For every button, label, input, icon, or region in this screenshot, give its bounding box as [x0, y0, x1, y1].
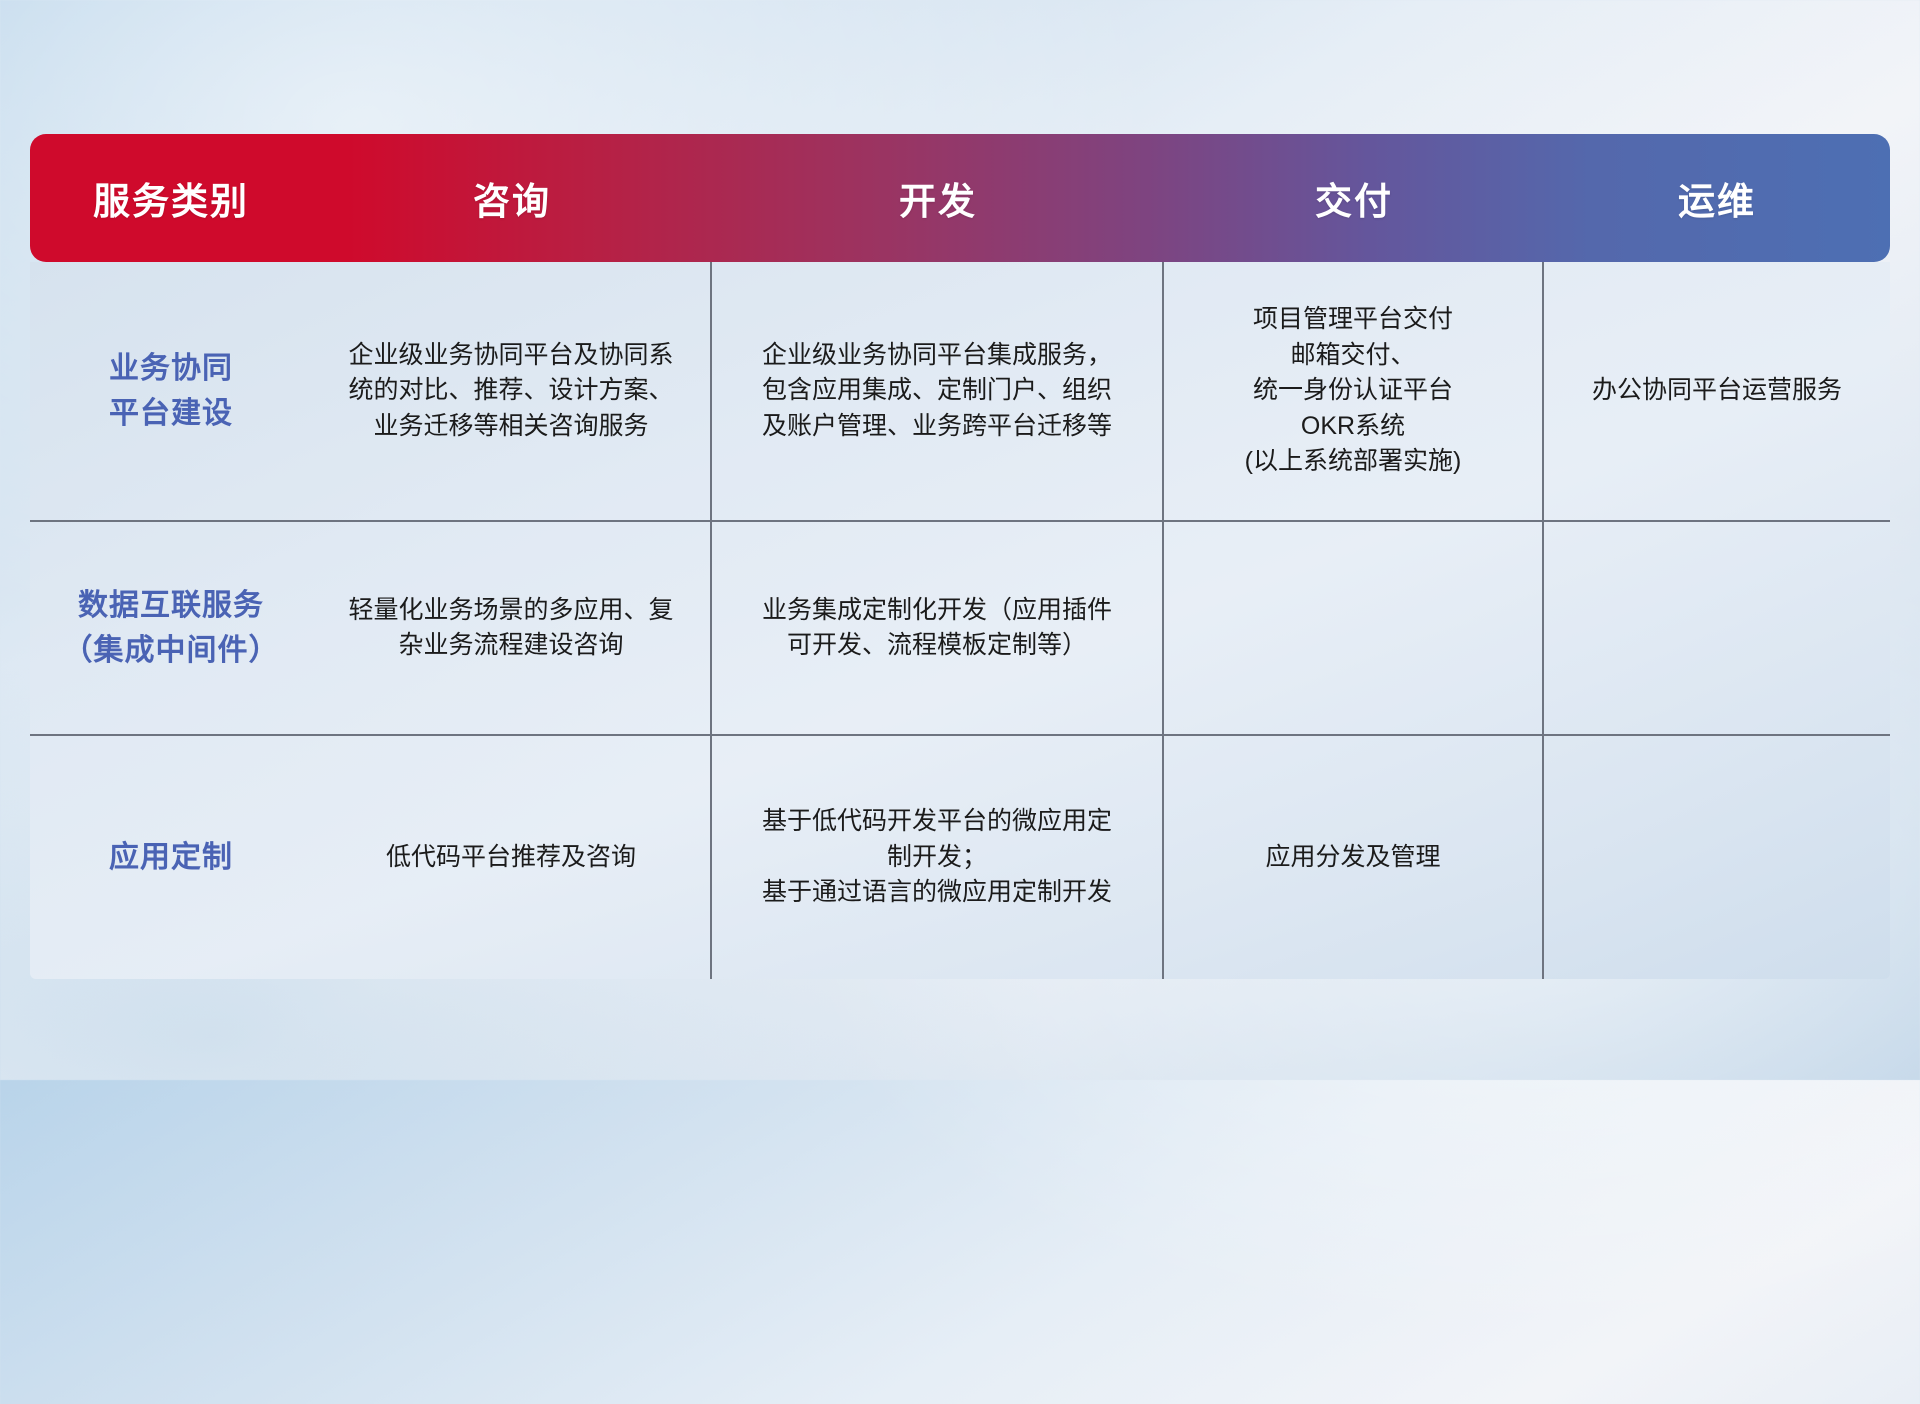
cell-consulting: 企业级业务协同平台及协同系 统的对比、推荐、设计方案、 业务迁移等相关咨询服务 — [312, 262, 712, 520]
service-matrix-table: 服务类别 咨询 开发 交付 运维 业务协同 平台建设 企业级业务协同平台及协同系… — [30, 134, 1890, 979]
column-header-operations-label: 运维 — [1678, 171, 1756, 225]
table-header-row: 服务类别 咨询 开发 交付 运维 — [30, 134, 1890, 262]
cell-operations — [1544, 736, 1890, 979]
cell-operations: 办公协同平台运营服务 — [1544, 262, 1890, 520]
column-header-category-label: 服务类别 — [93, 171, 249, 225]
column-header-delivery-label: 交付 — [1315, 171, 1393, 225]
cell-delivery: 应用分发及管理 — [1164, 736, 1544, 979]
column-header-category: 服务类别 — [30, 134, 312, 262]
table-row: 数据互联服务 （集成中间件） 轻量化业务场景的多应用、复 杂业务流程建设咨询 业… — [30, 522, 1890, 736]
cell-operations — [1544, 522, 1890, 734]
cell-development: 基于低代码开发平台的微应用定 制开发； 基于通过语言的微应用定制开发 — [712, 736, 1164, 979]
column-header-consulting: 咨询 — [312, 134, 712, 262]
column-header-consulting-label: 咨询 — [473, 171, 551, 225]
cell-delivery: 项目管理平台交付 邮箱交付、 统一身份认证平台 OKR系统 (以上系统部署实施) — [1164, 262, 1544, 520]
cell-consulting: 低代码平台推荐及咨询 — [312, 736, 712, 979]
column-header-development-label: 开发 — [899, 171, 977, 225]
column-header-development: 开发 — [712, 134, 1164, 262]
slide-canvas: 服务类别 咨询 开发 交付 运维 业务协同 平台建设 企业级业务协同平台及协同系… — [0, 0, 1920, 1080]
cell-development: 企业级业务协同平台集成服务， 包含应用集成、定制门户、组织 及账户管理、业务跨平… — [712, 262, 1164, 520]
cell-delivery — [1164, 522, 1544, 734]
cell-development: 业务集成定制化开发（应用插件 可开发、流程模板定制等） — [712, 522, 1164, 734]
table-row: 业务协同 平台建设 企业级业务协同平台及协同系 统的对比、推荐、设计方案、 业务… — [30, 262, 1890, 522]
column-header-delivery: 交付 — [1164, 134, 1544, 262]
row-category-label: 业务协同 平台建设 — [30, 262, 312, 520]
cell-consulting: 轻量化业务场景的多应用、复 杂业务流程建设咨询 — [312, 522, 712, 734]
table-row: 应用定制 低代码平台推荐及咨询 基于低代码开发平台的微应用定 制开发； 基于通过… — [30, 736, 1890, 979]
column-header-operations: 运维 — [1544, 134, 1890, 262]
row-category-label: 应用定制 — [30, 736, 312, 979]
table-body: 业务协同 平台建设 企业级业务协同平台及协同系 统的对比、推荐、设计方案、 业务… — [30, 262, 1890, 979]
row-category-label: 数据互联服务 （集成中间件） — [30, 522, 312, 734]
